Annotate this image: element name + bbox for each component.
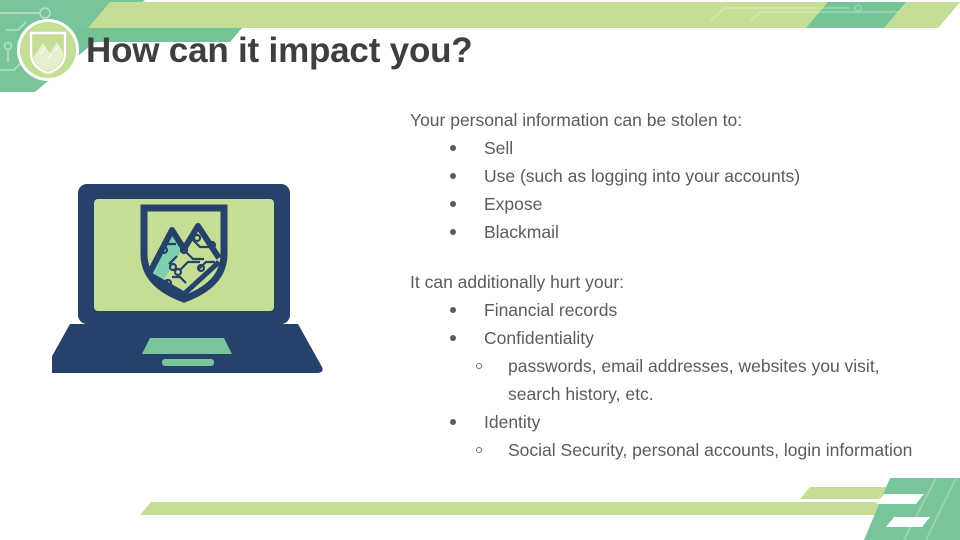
list-item-label: Identity — [484, 412, 540, 432]
bullet-dot-icon — [450, 173, 456, 179]
list-item: Blackmail — [410, 218, 930, 246]
list-item: Confidentiality — [410, 324, 930, 352]
list-item-label: Blackmail — [484, 222, 559, 242]
slide-canvas: How can it impact you? — [0, 0, 960, 540]
list-item: Financial records — [410, 296, 930, 324]
sub-list-item: Social Security, personal accounts, logi… — [410, 436, 930, 464]
bullet-ring-icon — [476, 363, 482, 369]
list-item-label: Financial records — [484, 300, 617, 320]
list-item: Use (such as logging into your accounts) — [410, 162, 930, 190]
page-title: How can it impact you? — [86, 31, 472, 71]
list-item: Identity — [410, 408, 930, 436]
bullet-dot-icon — [450, 307, 456, 313]
shield-mountain-logo — [16, 18, 80, 82]
bullet-ring-icon — [476, 447, 482, 453]
sub-list-item-label: Social Security, personal accounts, logi… — [508, 440, 912, 460]
list-item: Expose — [410, 190, 930, 218]
bottom-band-light — [140, 502, 900, 515]
bullet-dot-icon — [450, 201, 456, 207]
section-two-lead: It can additionally hurt your: — [410, 268, 930, 296]
bullet-dot-icon — [450, 145, 456, 151]
section-one-lead: Your personal information can be stolen … — [410, 106, 930, 134]
bullet-dot-icon — [450, 229, 456, 235]
bullet-dot-icon — [450, 335, 456, 341]
section-two-list: Financial records Confidentiality passwo… — [410, 296, 930, 464]
list-item: Sell — [410, 134, 930, 162]
sub-list-item: passwords, email addresses, websites you… — [410, 352, 930, 408]
top-circuit-accent-icon — [600, 0, 960, 30]
laptop-with-shield-illustration — [52, 182, 332, 374]
list-item-label: Use (such as logging into your accounts) — [484, 166, 800, 186]
section-spacer — [410, 246, 930, 268]
trackpad-shape — [142, 338, 232, 354]
bullet-dot-icon — [450, 419, 456, 425]
list-item-label: Expose — [484, 194, 542, 214]
section-one-list: Sell Use (such as logging into your acco… — [410, 134, 930, 246]
sub-list-item-label: passwords, email addresses, websites you… — [508, 356, 880, 404]
list-item-label: Sell — [484, 138, 513, 158]
slide-body-content: Your personal information can be stolen … — [410, 106, 930, 464]
base-bar-shape — [162, 359, 214, 366]
list-item-label: Confidentiality — [484, 328, 594, 348]
